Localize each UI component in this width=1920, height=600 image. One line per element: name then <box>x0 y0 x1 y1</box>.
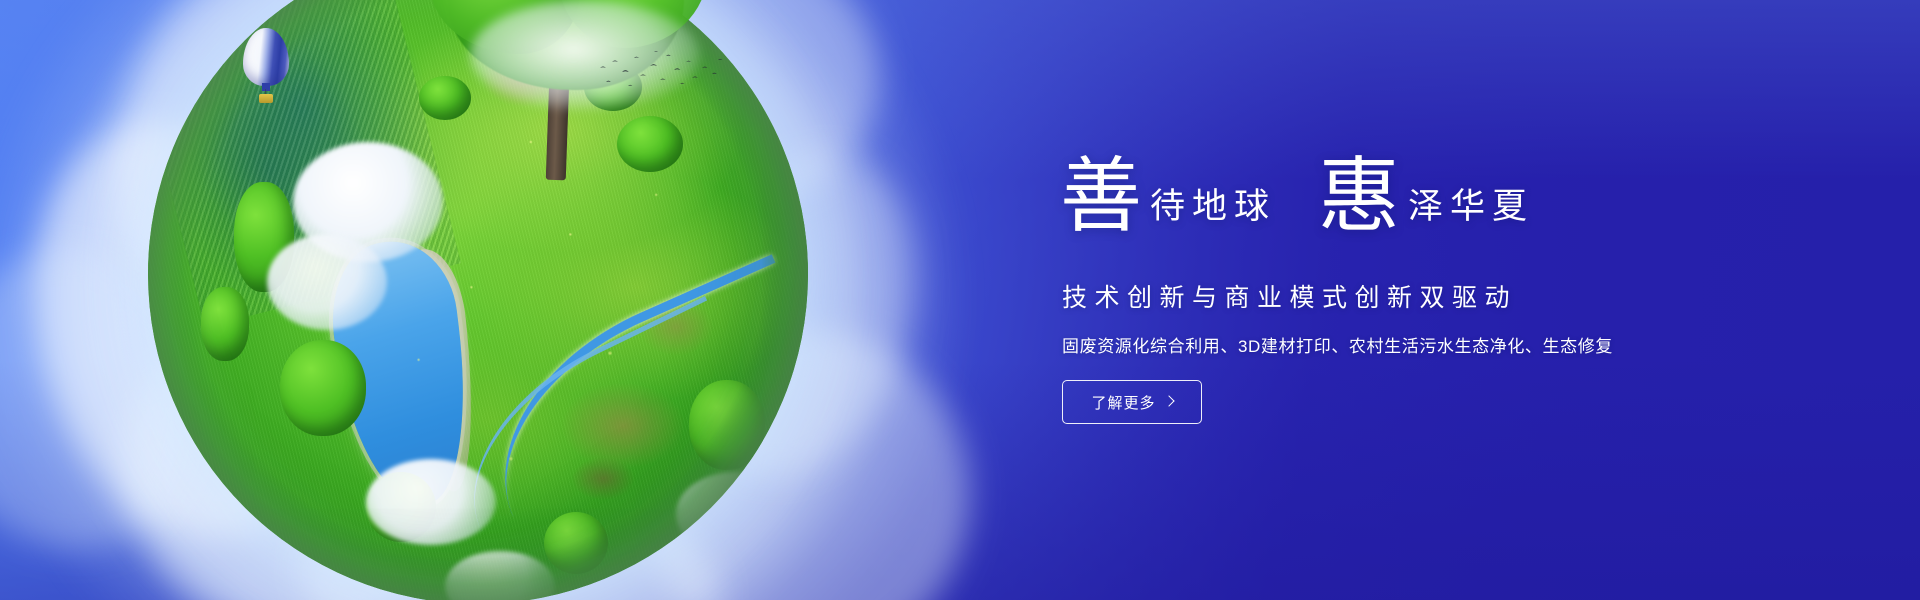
balloon-basket-icon <box>259 94 273 103</box>
headline: 善 待地球 惠 泽华夏 <box>1060 150 1534 232</box>
description: 固废资源化综合利用、3D建材打印、农村生活污水生态净化、生态修复 <box>1062 332 1613 357</box>
subtitle: 技术创新与商业模式创新双驱动 <box>1062 278 1517 314</box>
balloon-envelope-icon <box>243 28 289 86</box>
birds-icon <box>592 48 732 94</box>
learn-more-label: 了解更多 <box>1091 392 1155 413</box>
learn-more-button[interactable]: 了解更多 <box>1062 380 1202 424</box>
hero-content: 善 待地球 惠 泽华夏 技术创新与商业模式创新双驱动 固废资源化综合利用、3D建… <box>1060 0 1780 600</box>
balloon-neck-icon <box>262 83 270 91</box>
headline-secondary-2: 泽华夏 <box>1408 190 1534 225</box>
headline-group-1: 善 待地球 <box>1060 150 1276 232</box>
hot-air-balloon-icon <box>243 28 289 108</box>
chevron-right-icon <box>1163 395 1174 406</box>
headline-primary-char-2: 惠 <box>1318 156 1400 238</box>
headline-primary-char-1: 善 <box>1060 156 1142 238</box>
headline-group-2: 惠 泽华夏 <box>1318 150 1534 232</box>
headline-secondary-1: 待地球 <box>1150 190 1276 225</box>
hero-banner: 善 待地球 惠 泽华夏 技术创新与商业模式创新双驱动 固废资源化综合利用、3D建… <box>0 0 1920 600</box>
